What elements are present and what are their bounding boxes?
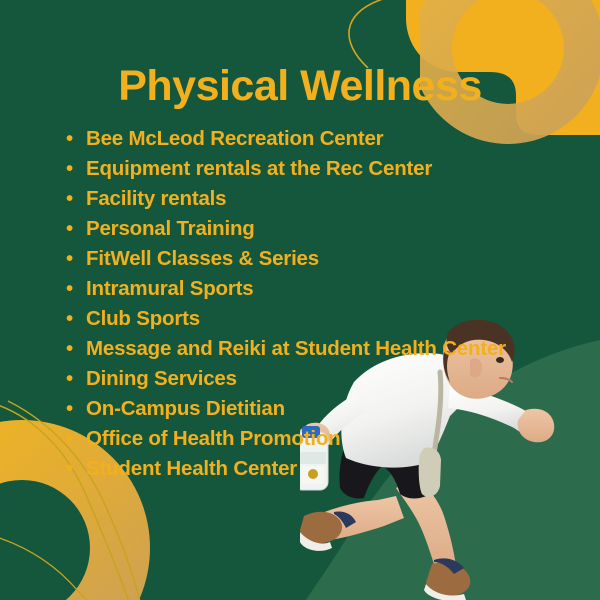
list-item: •On-Campus Dietitian — [62, 394, 512, 424]
bullet-icon: • — [66, 274, 73, 304]
bullet-icon: • — [66, 214, 73, 244]
list-item-label: Facility rentals — [86, 187, 226, 210]
list-item: •Bee McLeod Recreation Center — [62, 124, 512, 154]
bullet-icon: • — [66, 454, 73, 484]
list-item-label: On-Campus Dietitian — [86, 397, 285, 420]
list-item-label: Club Sports — [86, 307, 200, 330]
list-item: •Club Sports — [62, 304, 512, 334]
bullet-icon: • — [66, 244, 73, 274]
bullet-icon: • — [66, 364, 73, 394]
list-item: •Equipment rentals at the Rec Center — [62, 154, 512, 184]
bullet-icon: • — [66, 424, 73, 454]
bullet-icon: • — [66, 334, 73, 364]
list-item-label: Office of Health Promotion — [86, 427, 340, 450]
list-item-label: Intramural Sports — [86, 277, 253, 300]
list-item-label: Message and Reiki at Student Health Cent… — [86, 337, 506, 360]
list-item-label: Bee McLeod Recreation Center — [86, 127, 383, 150]
list-item: •Student Health Center — [62, 454, 512, 484]
list-item: •Personal Training — [62, 214, 512, 244]
bullet-icon: • — [66, 124, 73, 154]
bullet-icon: • — [66, 394, 73, 424]
bullet-icon: • — [66, 304, 73, 334]
list-item-label: Dining Services — [86, 367, 237, 390]
list-item: •Intramural Sports — [62, 274, 512, 304]
list-item: •FitWell Classes & Series — [62, 244, 512, 274]
wellness-resource-list: •Bee McLeod Recreation Center•Equipment … — [62, 124, 512, 484]
list-item-label: Student Health Center — [86, 457, 297, 480]
page-title: Physical Wellness — [0, 62, 600, 110]
bullet-icon: • — [66, 154, 73, 184]
front-shoe — [424, 558, 470, 600]
thin-arc-line-top — [330, 0, 440, 68]
list-item: •Message and Reiki at Student Health Cen… — [62, 334, 512, 364]
bullet-icon: • — [66, 184, 73, 214]
list-item: •Office of Health Promotion — [62, 424, 512, 454]
list-item: •Dining Services — [62, 364, 512, 394]
list-item-label: FitWell Classes & Series — [86, 247, 319, 270]
list-item-label: Personal Training — [86, 217, 255, 240]
list-item-label: Equipment rentals at the Rec Center — [86, 157, 432, 180]
rear-shoe — [300, 511, 356, 550]
poster-canvas: Physical Wellness •Bee McLeod Recreation… — [0, 0, 600, 600]
list-item: •Facility rentals — [62, 184, 512, 214]
